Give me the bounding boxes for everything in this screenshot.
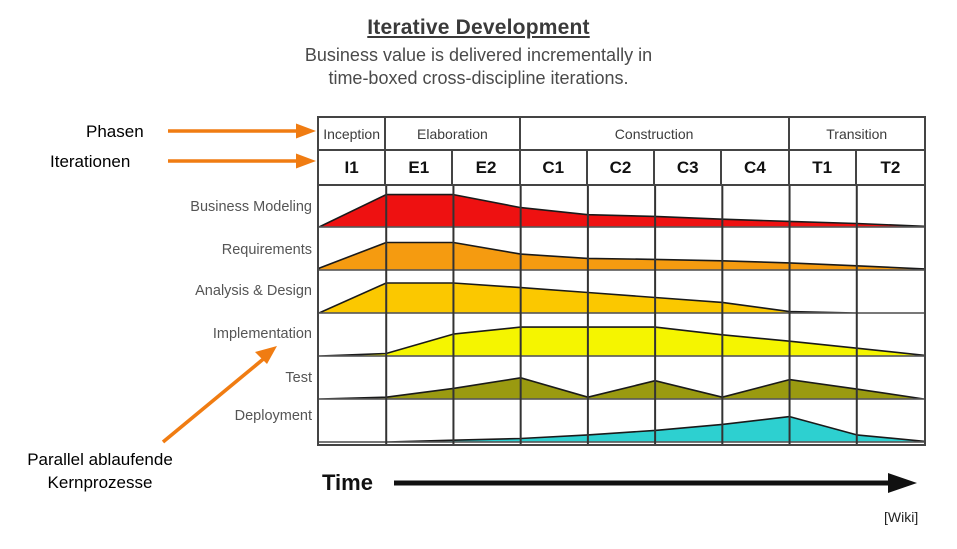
discipline-curves [319, 186, 924, 444]
discipline-label-business-modeling: Business Modeling [190, 199, 312, 215]
annotation-iterations-label: Iterationen [50, 152, 130, 172]
curve-business-modeling [319, 195, 924, 227]
iteration-cell-c3: C3 [655, 151, 722, 184]
discipline-label-implementation: Implementation [213, 326, 312, 342]
iteration-cell-e2: E2 [453, 151, 520, 184]
core-processes-line-2: Kernprozesse [2, 471, 198, 494]
curve-deployment [319, 417, 924, 442]
rup-hump-chart: InceptionElaborationConstructionTransiti… [317, 116, 926, 446]
plot-area [319, 186, 924, 444]
iteration-cell-c2: C2 [588, 151, 655, 184]
phase-header-row: InceptionElaborationConstructionTransiti… [319, 118, 924, 151]
iteration-cell-t2: T2 [857, 151, 924, 184]
phase-cell-elaboration: Elaboration [386, 118, 520, 149]
discipline-label-test: Test [285, 370, 312, 386]
core-processes-line-1: Parallel ablaufende [2, 448, 198, 471]
iteration-cell-c1: C1 [521, 151, 588, 184]
discipline-label-column: Business Modeling Requirements Analysis … [120, 116, 312, 446]
curve-requirements [319, 243, 924, 271]
phase-cell-inception: Inception [319, 118, 386, 149]
page-subtitle: Business value is delivered incrementall… [0, 44, 957, 90]
iteration-cell-t1: T1 [790, 151, 857, 184]
discipline-label-deployment: Deployment [235, 408, 312, 424]
page-title: Iterative Development [0, 16, 957, 40]
curve-analysis-design [319, 283, 924, 313]
discipline-label-requirements: Requirements [222, 242, 312, 258]
annotation-core-processes-label: Parallel ablaufende Kernprozesse [2, 448, 198, 494]
time-arrow-icon [394, 472, 919, 494]
curve-implementation [319, 327, 924, 356]
phase-cell-construction: Construction [521, 118, 790, 149]
source-credit: [Wiki] [884, 509, 918, 525]
iteration-header-row: I1E1E2C1C2C3C4T1T2 [319, 151, 924, 186]
time-axis: Time [322, 466, 922, 500]
iteration-cell-i1: I1 [319, 151, 386, 184]
subtitle-line-2: time-boxed cross-discipline iterations. [0, 67, 957, 90]
curve-test [319, 378, 924, 399]
subtitle-line-1: Business value is delivered incrementall… [0, 44, 957, 67]
title-block: Iterative Development Business value is … [0, 16, 957, 90]
discipline-label-analysis-design: Analysis & Design [195, 283, 312, 299]
iteration-cell-e1: E1 [386, 151, 453, 184]
time-axis-label: Time [322, 470, 373, 496]
phase-cell-transition: Transition [790, 118, 924, 149]
iteration-cell-c4: C4 [722, 151, 789, 184]
